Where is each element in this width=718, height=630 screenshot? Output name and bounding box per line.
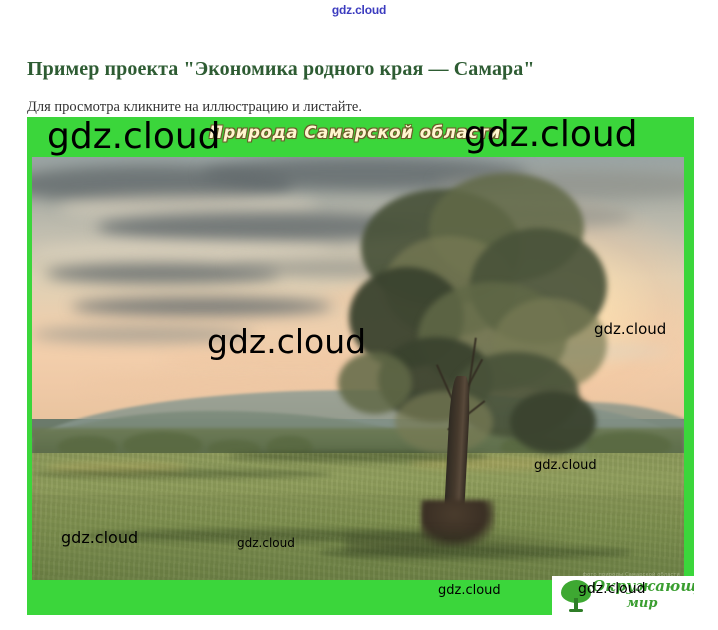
cloud-shape [32,326,254,343]
tree-canopy-mass [395,391,493,453]
logo-text: Окружающий мир [592,579,692,610]
tree-canopy-mass [510,391,596,453]
tree-shadow [345,529,567,559]
slide-viewer[interactable]: Природа Самарской области [27,117,694,615]
logo-line-2: мир [592,597,692,610]
slide-photo[interactable]: фото природы Самарской области [32,157,684,580]
logo-line-1: Окружающий [592,579,692,594]
tree-logo-icon [561,580,591,611]
slide-title: Природа Самарской области [205,123,505,142]
cloud-shape [71,297,332,316]
site-watermark-top: gdz.cloud [0,3,718,17]
page-subtitle: Для просмотра кликните на иллюстрацию и … [27,99,362,116]
foreground-tree [332,165,619,554]
okruzhayushchiy-mir-logo: Окружающий мир [552,576,694,615]
page-title: Пример проекта "Экономика родного края —… [27,58,535,81]
